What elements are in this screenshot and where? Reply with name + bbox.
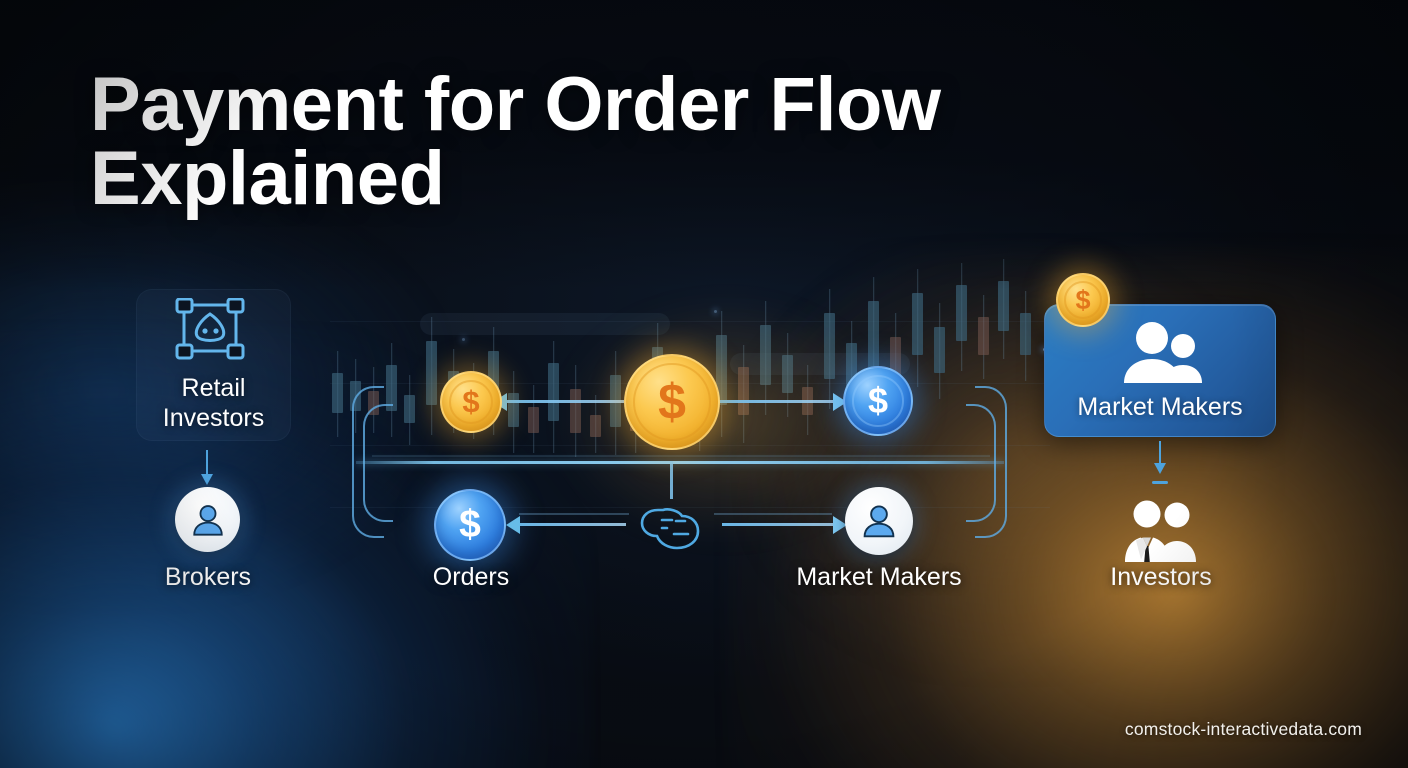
chart-candle-body	[426, 341, 437, 405]
person-avatar-icon	[856, 498, 902, 544]
network-cloud-node-icon	[636, 496, 710, 552]
market-makers-center-label: Market Makers	[769, 563, 989, 592]
flow-bus-line	[356, 461, 1004, 464]
infographic-canvas: Payment for Order Flow Explained Retail …	[0, 0, 1408, 768]
chart-candle-body	[978, 317, 989, 355]
coin-symbol: $	[1075, 285, 1090, 316]
retail-investors-label-line2: Investors	[136, 404, 291, 434]
brokers-label: Brokers	[112, 563, 304, 592]
arrow-right-icon	[722, 523, 834, 526]
arrow-down-icon	[206, 450, 208, 476]
center-coin-halo	[560, 300, 890, 540]
market-makers-badge-coin[interactable]: $	[1056, 273, 1110, 327]
bounding-box-shape-icon	[174, 298, 246, 362]
investors-label: Investors	[1066, 563, 1256, 592]
arrow-down-icon	[1159, 441, 1161, 465]
flow-guide-line	[714, 513, 832, 515]
coin-symbol: $	[868, 380, 888, 422]
arrow-left-icon	[519, 523, 626, 526]
coin-blue-top[interactable]: $	[843, 366, 913, 436]
chart-candle	[528, 385, 539, 453]
coin-symbol: $	[459, 503, 481, 547]
chart-candle-body	[548, 363, 559, 421]
chart-candle	[978, 295, 989, 379]
coin-symbol: $	[462, 384, 479, 420]
market-makers-avatar[interactable]	[845, 487, 913, 555]
person-avatar-icon	[186, 498, 230, 542]
chart-candle	[934, 303, 945, 399]
spark-icon	[714, 310, 717, 313]
chart-candle	[508, 371, 519, 453]
flow-guide-line	[519, 513, 629, 515]
brokers-avatar[interactable]	[175, 487, 240, 552]
flow-guide-line	[372, 455, 990, 457]
chart-candle-body	[332, 373, 343, 413]
chart-candle-body	[934, 327, 945, 373]
chart-candle	[548, 341, 559, 453]
chart-candle	[404, 375, 415, 445]
page-title: Payment for Order Flow Explained	[90, 68, 1010, 217]
coin-large-gold[interactable]: $	[624, 354, 720, 450]
chart-candle	[332, 351, 343, 437]
chart-candle-body	[404, 395, 415, 423]
chart-candle-body	[956, 285, 967, 341]
orders-coin[interactable]: $	[434, 489, 506, 561]
orders-label: Orders	[380, 563, 562, 592]
arrow-left-icon	[506, 400, 624, 403]
chart-candle	[426, 317, 437, 435]
market-makers-card-label: Market Makers	[1045, 393, 1275, 422]
retail-investors-label-line1: Retail	[136, 374, 291, 404]
people-group-icon	[1114, 321, 1206, 383]
footer-url: comstock-interactivedata.com	[1125, 719, 1362, 740]
flow-bus-stub	[670, 461, 673, 499]
chart-candle-body	[528, 407, 539, 433]
coin-small-gold[interactable]: $	[440, 371, 502, 433]
divider-dash	[1152, 481, 1168, 484]
coin-symbol: $	[658, 373, 686, 431]
spark-icon	[462, 338, 465, 341]
chart-candle-body	[912, 293, 923, 355]
arrow-right-icon	[718, 400, 834, 403]
chart-candle-body	[1020, 313, 1031, 355]
retail-investors-label: Retail Investors	[136, 374, 291, 433]
chart-candle	[1020, 291, 1031, 381]
business-people-icon	[1113, 500, 1207, 562]
chart-candle-body	[508, 393, 519, 427]
